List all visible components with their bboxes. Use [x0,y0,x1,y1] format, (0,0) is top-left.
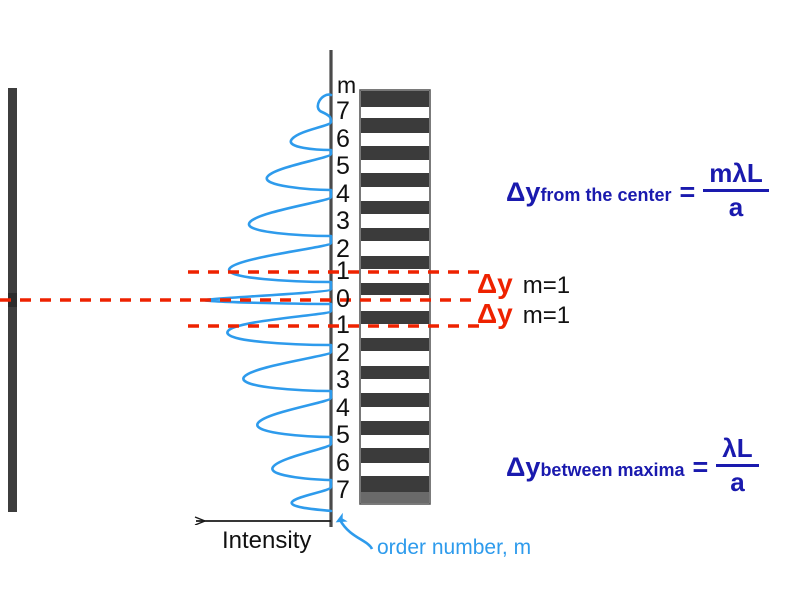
delta-y-order-lower: m=1 [523,302,570,330]
formula-1-equals: = [679,177,695,208]
formula-1-denominator: a [703,194,768,221]
intensity-curve [205,95,331,511]
formula-1-numerator: mλL [703,160,768,187]
formula-1-subscript: from the center [540,185,671,206]
order-number-2-lower: 2 [336,341,350,366]
formula-1-lhs: Δy [506,177,540,208]
formula-from-center: Δy from the center = mλL a [506,162,769,224]
formula-2-denominator: a [716,469,758,496]
formula-2-lhs: Δy [506,452,540,483]
order-number-5-lower: 5 [336,423,350,448]
diagram-canvas: 7 6 5 4 3 2 1 0 1 2 3 4 5 6 7 m Δy m=1 Δ… [0,0,800,600]
order-number-5-upper: 5 [336,154,350,179]
delta-y-symbol-lower: Δy [477,298,513,330]
order-number-callout-label: order number, m [377,536,531,560]
axis-label-m: m [337,72,356,99]
intensity-axis-label: Intensity [222,527,311,555]
order-number-1-upper: 1 [336,259,350,284]
order-number-1-lower: 1 [336,313,350,338]
order-number-7-lower: 7 [336,478,350,503]
order-number-pointer-arrow [340,520,372,549]
formula-2-fraction: λL a [716,435,758,497]
delta-y-symbol-upper: Δy [477,268,513,300]
order-number-6-upper: 6 [336,127,350,152]
order-number-4-lower: 4 [336,396,350,421]
formula-between-maxima: Δy between maxima = λL a [506,437,759,499]
order-number-7-upper: 7 [336,99,350,124]
delta-y-annotation-upper: Δy m=1 [477,268,570,300]
order-number-3-lower: 3 [336,368,350,393]
interference-fringe-photo [360,90,430,504]
order-number-6-lower: 6 [336,451,350,476]
order-number-3-upper: 3 [336,209,350,234]
formula-2-subscript: between maxima [540,460,684,481]
diagram-graphics [0,0,800,600]
delta-y-order-upper: m=1 [523,272,570,300]
order-number-0-center: 0 [336,287,350,312]
formula-2-numerator: λL [716,435,758,462]
order-number-4-upper: 4 [336,182,350,207]
formula-1-fraction: mλL a [703,160,768,222]
formula-2-equals: = [693,452,709,483]
delta-y-annotation-lower: Δy m=1 [477,298,570,330]
